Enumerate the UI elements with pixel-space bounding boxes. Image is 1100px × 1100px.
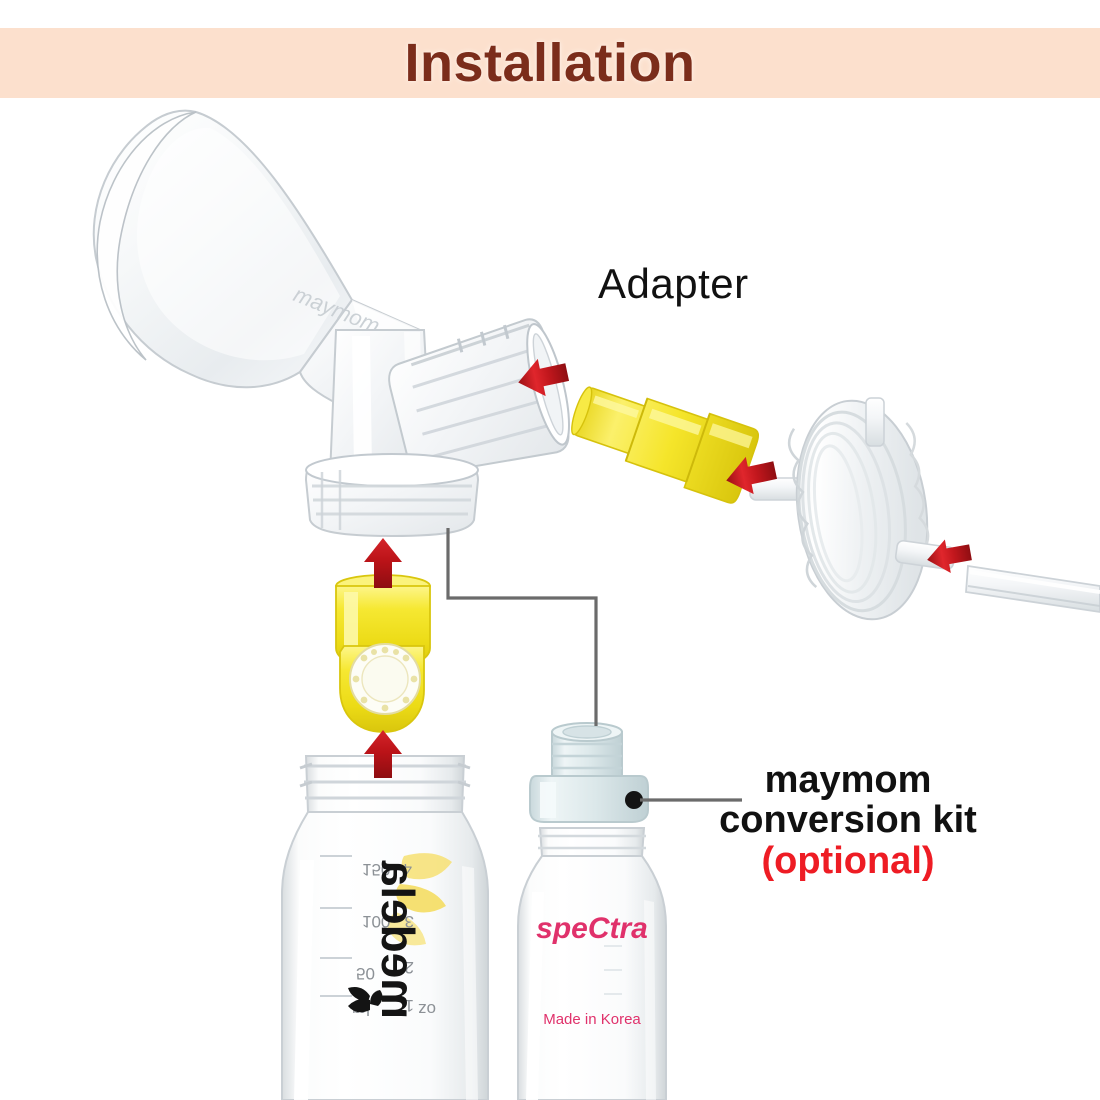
adapter-label: Adapter [598, 260, 749, 308]
medela-bottle: 150 100 50 ml 4 3 2 1 oz medela [282, 756, 488, 1100]
connector-part [306, 315, 579, 536]
valve-part [336, 575, 430, 732]
diagram-artwork: maymom [0, 0, 1100, 1100]
yellow-adapter-part [563, 372, 760, 505]
spectra-origin-text: Made in Korea [543, 1011, 641, 1028]
kit-label-line3: (optional) [718, 841, 978, 881]
spectra-brand-text: speCtra [536, 912, 648, 945]
kit-label-line1: maymom [718, 760, 978, 800]
leader-connector-to-kit [448, 528, 596, 726]
conversion-kit-part [530, 723, 648, 822]
tubing-part [966, 566, 1100, 612]
kit-label-line2: conversion kit [718, 800, 978, 840]
spectra-bottle: speCtra Made in Korea [518, 828, 666, 1100]
backflow-protector-part [750, 392, 955, 628]
conversion-kit-label: maymom conversion kit (optional) [718, 760, 978, 881]
arrow-tubing [924, 536, 973, 577]
installation-diagram: Installation [0, 0, 1100, 1100]
